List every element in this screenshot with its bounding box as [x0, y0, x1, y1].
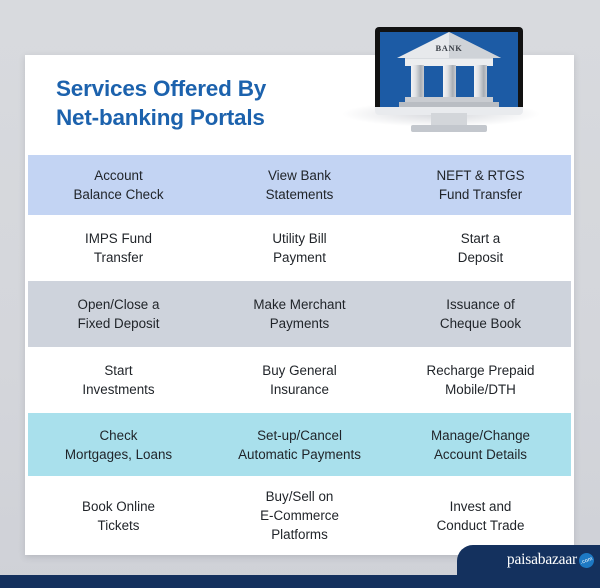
- dotcom-badge: .com: [577, 550, 596, 569]
- service-label-line: Make Merchant: [215, 295, 384, 314]
- page-title-line-2: Net-banking Portals: [56, 103, 356, 132]
- service-label-line: Payment: [215, 248, 384, 267]
- bank-column: [443, 65, 456, 97]
- service-label-line: Issuance of: [396, 295, 565, 314]
- header-section: Services Offered By Net-banking Portals …: [25, 55, 574, 155]
- service-label-line: NEFT & RTGS: [396, 166, 565, 185]
- service-label-line: Payments: [215, 314, 384, 333]
- bank-column: [474, 65, 487, 97]
- bank-building-icon: BANK: [397, 32, 501, 108]
- service-label-line: Fixed Deposit: [34, 314, 203, 333]
- service-label-line: Insurance: [215, 380, 384, 399]
- service-label-line: Invest and: [396, 497, 565, 516]
- service-label-line: Utility Bill: [215, 229, 384, 248]
- services-row: Open/Close aFixed DepositMake MerchantPa…: [28, 281, 571, 347]
- bank-on-monitor-icon: BANK: [325, 15, 555, 160]
- service-label-line: Open/Close a: [34, 295, 203, 314]
- infographic-card: Services Offered By Net-banking Portals …: [25, 55, 574, 555]
- services-grid: AccountBalance CheckView BankStatementsN…: [28, 155, 571, 555]
- service-label-line: View Bank: [215, 166, 384, 185]
- service-label-line: Start: [34, 361, 203, 380]
- service-label-line: Check: [34, 426, 203, 445]
- service-label-line: Set-up/Cancel: [215, 426, 384, 445]
- service-label-line: Cheque Book: [396, 314, 565, 333]
- monitor-frame: BANK: [375, 27, 523, 113]
- service-label-line: Account Details: [396, 445, 565, 464]
- service-cell: NEFT & RTGSFund Transfer: [390, 166, 571, 204]
- service-label-line: Statements: [215, 185, 384, 204]
- service-label-line: Conduct Trade: [396, 516, 565, 535]
- service-cell: Buy/Sell onE-CommercePlatforms: [209, 487, 390, 544]
- service-cell: CheckMortgages, Loans: [28, 426, 209, 464]
- page-title-line-1: Services Offered By: [56, 74, 356, 103]
- service-label-line: IMPS Fund: [34, 229, 203, 248]
- service-cell: Start aDeposit: [390, 229, 571, 267]
- service-cell: AccountBalance Check: [28, 166, 209, 204]
- service-label-line: Investments: [34, 380, 203, 399]
- service-cell: Utility BillPayment: [209, 229, 390, 267]
- service-cell: Open/Close aFixed Deposit: [28, 295, 209, 333]
- service-label-line: Book Online: [34, 497, 203, 516]
- service-label-line: Start a: [396, 229, 565, 248]
- services-row: StartInvestmentsBuy GeneralInsuranceRech…: [28, 347, 571, 413]
- service-label-line: Buy/Sell on: [215, 487, 384, 506]
- service-cell: Make MerchantPayments: [209, 295, 390, 333]
- bank-building-label: BANK: [397, 43, 501, 53]
- service-label-line: Manage/Change: [396, 426, 565, 445]
- services-row: AccountBalance CheckView BankStatementsN…: [28, 155, 571, 215]
- bank-columns: [411, 65, 487, 97]
- service-label-line: Mobile/DTH: [396, 380, 565, 399]
- service-cell: IMPS FundTransfer: [28, 229, 209, 267]
- service-cell: StartInvestments: [28, 361, 209, 399]
- page-title: Services Offered By Net-banking Portals: [56, 74, 356, 132]
- service-label-line: Account: [34, 166, 203, 185]
- monitor-screen: BANK: [380, 32, 518, 108]
- service-cell: Recharge PrepaidMobile/DTH: [390, 361, 571, 399]
- bank-column: [411, 65, 424, 97]
- service-label-line: Platforms: [215, 525, 384, 544]
- service-label-line: Balance Check: [34, 185, 203, 204]
- service-label-line: Tickets: [34, 516, 203, 535]
- service-label-line: Transfer: [34, 248, 203, 267]
- service-label-line: Fund Transfer: [396, 185, 565, 204]
- service-label-line: Recharge Prepaid: [396, 361, 565, 380]
- services-row: CheckMortgages, LoansSet-up/CancelAutoma…: [28, 413, 571, 476]
- service-label-line: Buy General: [215, 361, 384, 380]
- service-cell: Issuance ofCheque Book: [390, 295, 571, 333]
- services-row: Book OnlineTicketsBuy/Sell onE-CommerceP…: [28, 476, 571, 555]
- infographic-stage: Services Offered By Net-banking Portals …: [0, 0, 600, 588]
- service-label-line: E-Commerce: [215, 506, 384, 525]
- monitor-stand-base: [411, 125, 487, 132]
- service-cell: Buy GeneralInsurance: [209, 361, 390, 399]
- footer-strip: [0, 575, 600, 588]
- service-label-line: Automatic Payments: [215, 445, 384, 464]
- service-cell: Book OnlineTickets: [28, 497, 209, 535]
- service-cell: View BankStatements: [209, 166, 390, 204]
- service-cell: Set-up/CancelAutomatic Payments: [209, 426, 390, 464]
- service-cell: Manage/ChangeAccount Details: [390, 426, 571, 464]
- brand-wordmark: paisabazaar: [507, 551, 577, 569]
- service-label-line: Deposit: [396, 248, 565, 267]
- service-label-line: Mortgages, Loans: [34, 445, 203, 464]
- service-cell: Invest andConduct Trade: [390, 497, 571, 535]
- brand-footer: paisabazaar .com: [457, 545, 600, 575]
- services-row: IMPS FundTransferUtility BillPaymentStar…: [28, 215, 571, 281]
